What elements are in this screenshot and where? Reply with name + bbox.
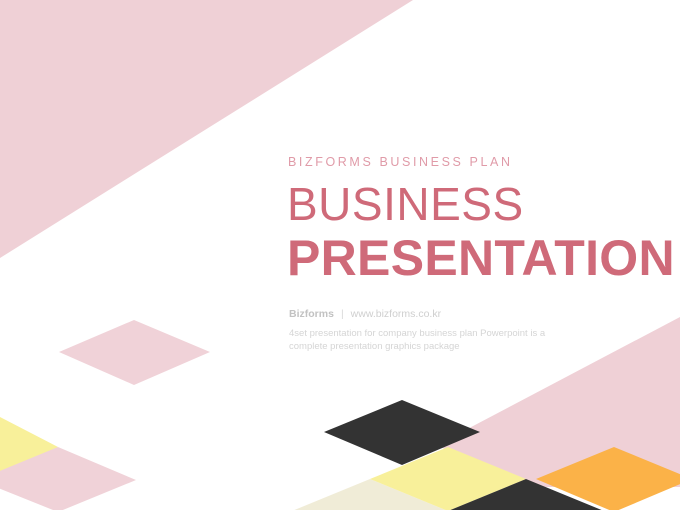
page-title-secondary: PRESENTATION xyxy=(287,230,647,286)
presentation-slide: BIZFORMS BUSINESS PLAN BUSINESS PRESENTA… xyxy=(0,0,680,510)
title-text-block: BIZFORMS BUSINESS PLAN BUSINESS PRESENTA… xyxy=(287,155,647,353)
eyebrow-label: BIZFORMS BUSINESS PLAN xyxy=(288,155,647,169)
meta-separator: | xyxy=(334,308,351,320)
brand-meta-row: Bizforms|www.bizforms.co.kr xyxy=(289,308,647,320)
brand-url[interactable]: www.bizforms.co.kr xyxy=(351,308,441,320)
page-title-primary: BUSINESS xyxy=(287,178,647,230)
pink-diamond-left xyxy=(59,320,210,385)
slide-description: 4set presentation for company business p… xyxy=(289,327,557,353)
brand-name: Bizforms xyxy=(289,308,334,320)
